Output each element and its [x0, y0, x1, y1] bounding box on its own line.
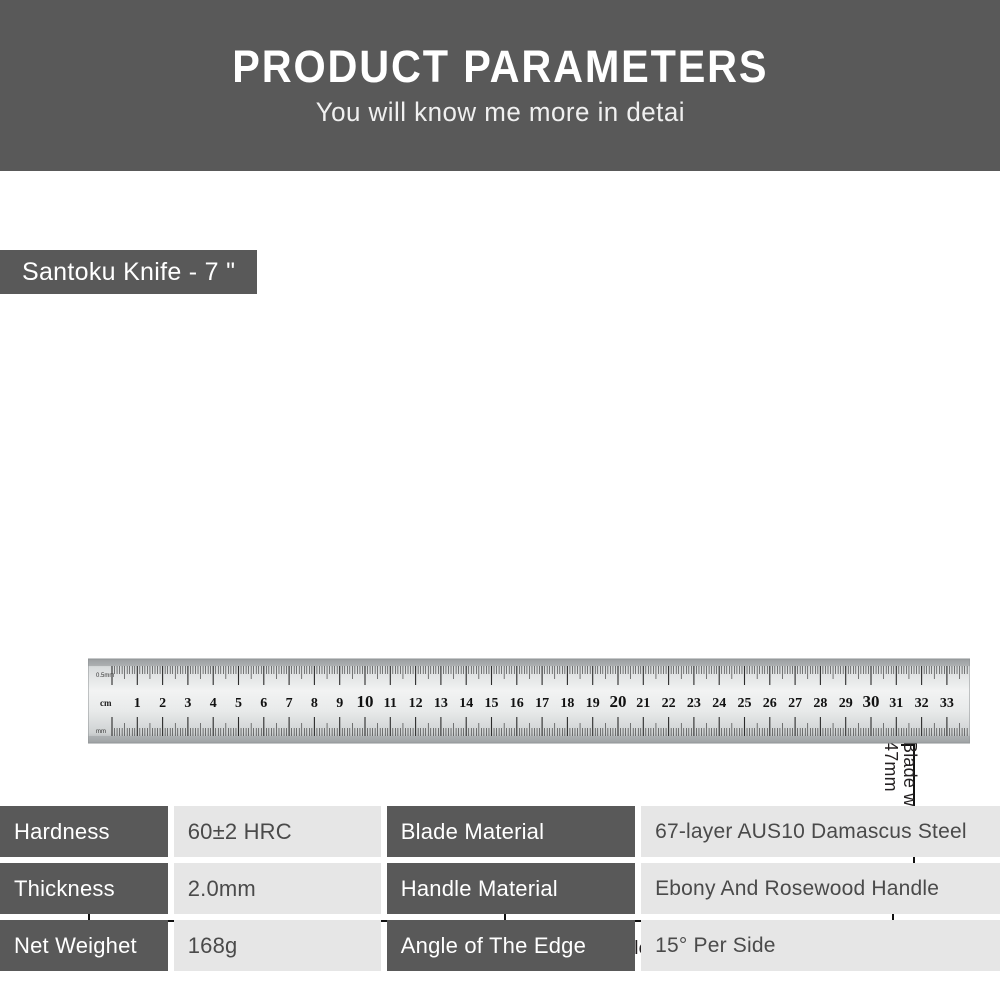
spec-key-thickness: Thickness [0, 863, 168, 914]
svg-text:15: 15 [485, 696, 499, 711]
svg-text:cm: cm [100, 698, 112, 708]
svg-text:0.5mm: 0.5mm [96, 673, 114, 679]
page-title: PRODUCT PARAMETERS [232, 43, 768, 90]
page-subtitle: You will know me more in detai [315, 97, 684, 128]
knife-dimension-diagram: 拓禾 TURWHO Japanese AUS-10 Damascus Steel… [0, 320, 1000, 650]
svg-text:12: 12 [409, 696, 423, 711]
spec-key-edge-angle: Angle of The Edge [387, 920, 635, 971]
measuring-ruler: 1234567891011121314151617181920212223242… [88, 655, 970, 747]
svg-text:23: 23 [687, 696, 701, 711]
svg-text:8: 8 [311, 696, 318, 711]
svg-text:29: 29 [839, 696, 853, 711]
svg-text:17: 17 [535, 696, 549, 711]
svg-text:28: 28 [813, 696, 827, 711]
svg-text:14: 14 [459, 696, 473, 711]
svg-text:11: 11 [384, 696, 397, 711]
svg-text:4: 4 [210, 696, 217, 711]
svg-text:7: 7 [286, 696, 293, 711]
page-header: PRODUCT PARAMETERS You will know me more… [0, 0, 1000, 171]
spec-key-hardness: Hardness [0, 806, 168, 857]
ruler-illustration: 1234567891011121314151617181920212223242… [88, 655, 970, 747]
knife-illustration: 拓禾 TURWHO Japanese AUS-10 Damascus Steel… [0, 320, 1000, 650]
svg-text:33: 33 [940, 696, 954, 711]
product-name-badge: Santoku Knife - 7 " [0, 250, 257, 294]
svg-text:mm: mm [96, 729, 106, 735]
table-row: Hardness 60±2 HRC Blade Material 67-laye… [0, 806, 1000, 857]
svg-text:16: 16 [510, 696, 524, 711]
svg-text:2: 2 [159, 696, 166, 711]
svg-text:30: 30 [863, 692, 880, 711]
svg-text:31: 31 [889, 696, 903, 711]
product-parameters-page: PRODUCT PARAMETERS You will know me more… [0, 0, 1000, 1000]
product-name-label: Santoku Knife - 7 " [22, 258, 235, 287]
svg-text:5: 5 [235, 696, 242, 711]
svg-text:1: 1 [134, 696, 141, 711]
spec-key-handle-material: Handle Material [387, 863, 635, 914]
spec-value-thickness: 2.0mm [174, 863, 381, 914]
svg-text:18: 18 [560, 696, 574, 711]
svg-text:32: 32 [915, 696, 929, 711]
svg-text:25: 25 [738, 696, 752, 711]
svg-text:20: 20 [610, 692, 627, 711]
svg-text:19: 19 [586, 696, 600, 711]
svg-text:3: 3 [184, 696, 191, 711]
table-row: Net Weighet 168g Angle of The Edge 15° P… [0, 920, 1000, 971]
svg-text:22: 22 [662, 696, 676, 711]
specification-table: Hardness 60±2 HRC Blade Material 67-laye… [0, 806, 1000, 971]
svg-text:13: 13 [434, 696, 448, 711]
spec-value-handle-material: Ebony And Rosewood Handle [641, 863, 1000, 914]
svg-text:27: 27 [788, 696, 802, 711]
svg-text:21: 21 [636, 696, 650, 711]
svg-text:24: 24 [712, 696, 726, 711]
svg-text:26: 26 [763, 696, 777, 711]
spec-key-blade-material: Blade Material [387, 806, 635, 857]
svg-text:6: 6 [260, 696, 267, 711]
svg-text:10: 10 [357, 692, 374, 711]
spec-key-net-weight: Net Weighet [0, 920, 168, 971]
spec-value-hardness: 60±2 HRC [174, 806, 381, 857]
spec-value-blade-material: 67-layer AUS10 Damascus Steel [641, 806, 1000, 857]
svg-text:9: 9 [336, 696, 343, 711]
spec-value-edge-angle: 15° Per Side [641, 920, 1000, 971]
table-row: Thickness 2.0mm Handle Material Ebony An… [0, 863, 1000, 914]
spec-value-net-weight: 168g [174, 920, 381, 971]
